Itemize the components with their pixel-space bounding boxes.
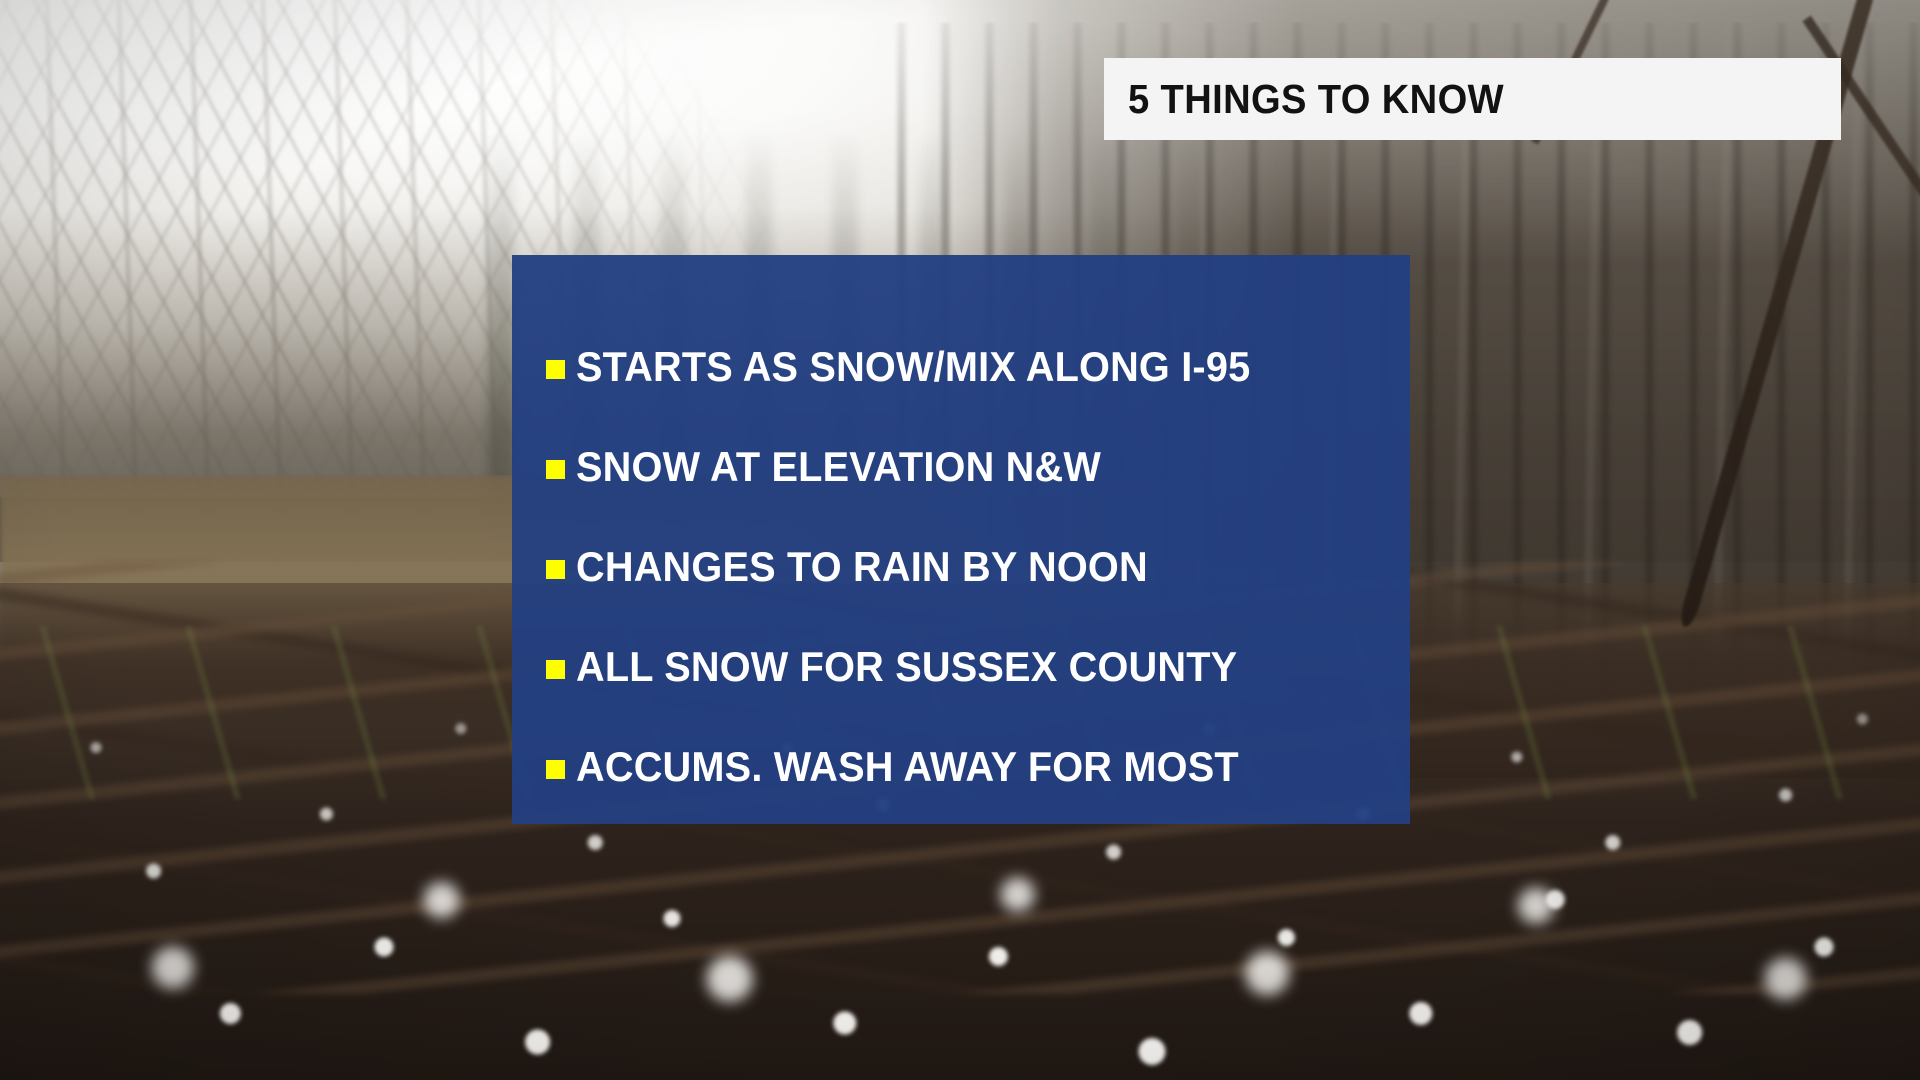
yellow-square-bullet-icon xyxy=(546,560,565,579)
yellow-square-bullet-icon xyxy=(546,460,565,479)
bullet-item-1: STARTS AS SNOW/MIX ALONG I-95 xyxy=(512,317,1410,417)
bullet-label-1: STARTS AS SNOW/MIX ALONG I-95 xyxy=(576,343,1250,391)
bullet-label-4: ALL SNOW FOR SUSSEX COUNTY xyxy=(576,643,1237,691)
yellow-square-bullet-icon xyxy=(546,760,565,779)
bullet-label-3: CHANGES TO RAIN BY NOON xyxy=(576,543,1148,591)
bullet-label-5: ACCUMS. WASH AWAY FOR MOST xyxy=(576,743,1239,791)
title-bar: 5 THINGS TO KNOW xyxy=(1104,58,1841,140)
page-title: 5 THINGS TO KNOW xyxy=(1128,76,1504,123)
bullet-item-3: CHANGES TO RAIN BY NOON xyxy=(512,517,1410,617)
yellow-square-bullet-icon xyxy=(546,360,565,379)
bullet-item-4: ALL SNOW FOR SUSSEX COUNTY xyxy=(512,617,1410,717)
bullet-panel: STARTS AS SNOW/MIX ALONG I-95 SNOW AT EL… xyxy=(512,255,1410,824)
bullet-item-2: SNOW AT ELEVATION N&W xyxy=(512,417,1410,517)
bullet-label-2: SNOW AT ELEVATION N&W xyxy=(576,443,1101,491)
bullet-item-5: ACCUMS. WASH AWAY FOR MOST xyxy=(512,717,1410,817)
yellow-square-bullet-icon xyxy=(546,660,565,679)
weather-graphic-frame: 5 THINGS TO KNOW STARTS AS SNOW/MIX ALON… xyxy=(0,0,1920,1080)
